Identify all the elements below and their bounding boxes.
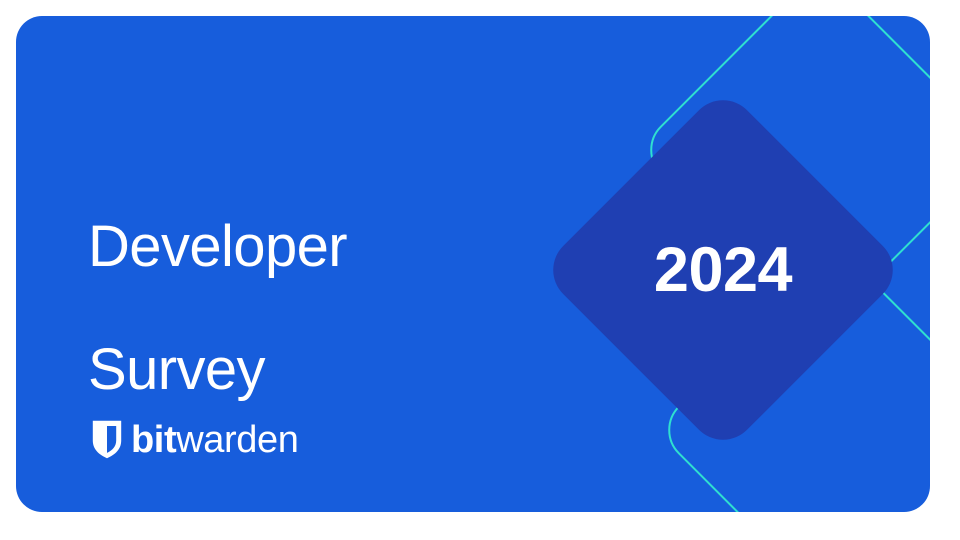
bitwarden-wordmark-warden: warden <box>176 419 298 461</box>
bitwarden-shield-icon <box>92 420 122 459</box>
bitwarden-wordmark: bitwarden <box>131 421 298 459</box>
year-badge: 2024 <box>539 86 907 454</box>
title-card: Developer Survey 2024 bitwarden <box>16 16 930 512</box>
page-title-line-2: Survey <box>88 339 347 400</box>
page-title-line-1: Developer <box>88 216 347 277</box>
slide-canvas: Developer Survey 2024 bitwarden <box>0 0 960 540</box>
year-badge-label: 2024 <box>593 140 853 400</box>
page-title: Developer Survey <box>88 155 347 462</box>
bitwarden-logo: bitwarden <box>92 420 298 459</box>
bitwarden-wordmark-bit: bit <box>131 419 176 461</box>
